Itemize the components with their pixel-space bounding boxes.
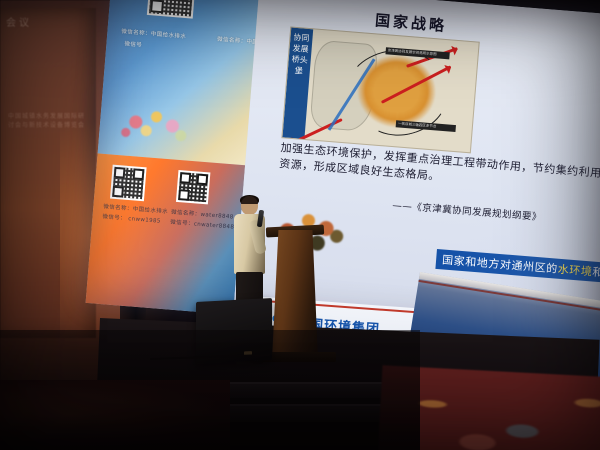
- screen-panel-wechat-bottom: 微信名称：中国给水排水 微信号： cnww1985 微信名称：water8848…: [86, 153, 246, 314]
- map-side-label-bar: 协同发展桥头堡: [282, 28, 313, 139]
- wechat-id-label-top: 微信号: [124, 39, 142, 48]
- screen-panel-wechat-top: 微信名称：中国给水排水 微信号 微信名称：中国给水排水: [98, 0, 260, 165]
- slide-citation: ——《京津冀协同发展规划纲要》: [392, 197, 543, 223]
- banner-prefix: 国家和地方对通州区的: [442, 251, 559, 276]
- conference-photo-scene: 会议 中国城镇水务发展国际研讨会与新技术设备博览会 微信名称：中国给水排水 微信…: [0, 0, 600, 450]
- banner-middle: 和: [592, 264, 600, 281]
- qr-code-icon-right: [176, 170, 210, 204]
- qr-code-icon-left: [110, 165, 147, 202]
- qr-code-icon: [147, 0, 197, 19]
- wechat-name-label-top: 微信名称：中国给水排水: [121, 27, 186, 40]
- banner-highlight-water-environment: 水环境: [557, 261, 593, 280]
- left-wall-title: 会议: [6, 14, 32, 29]
- screen-flower-arrangement: [107, 86, 203, 149]
- foreground-shadow: [0, 330, 420, 450]
- map-side-label: 协同发展桥头堡: [287, 32, 312, 78]
- slide-title: 国家战略: [374, 9, 447, 36]
- strategy-map-graphic: 协同发展桥头堡 京津冀协同发展空间格局示意图 一核双城三轴四区多节点: [281, 26, 479, 153]
- presenter-head: [241, 196, 258, 215]
